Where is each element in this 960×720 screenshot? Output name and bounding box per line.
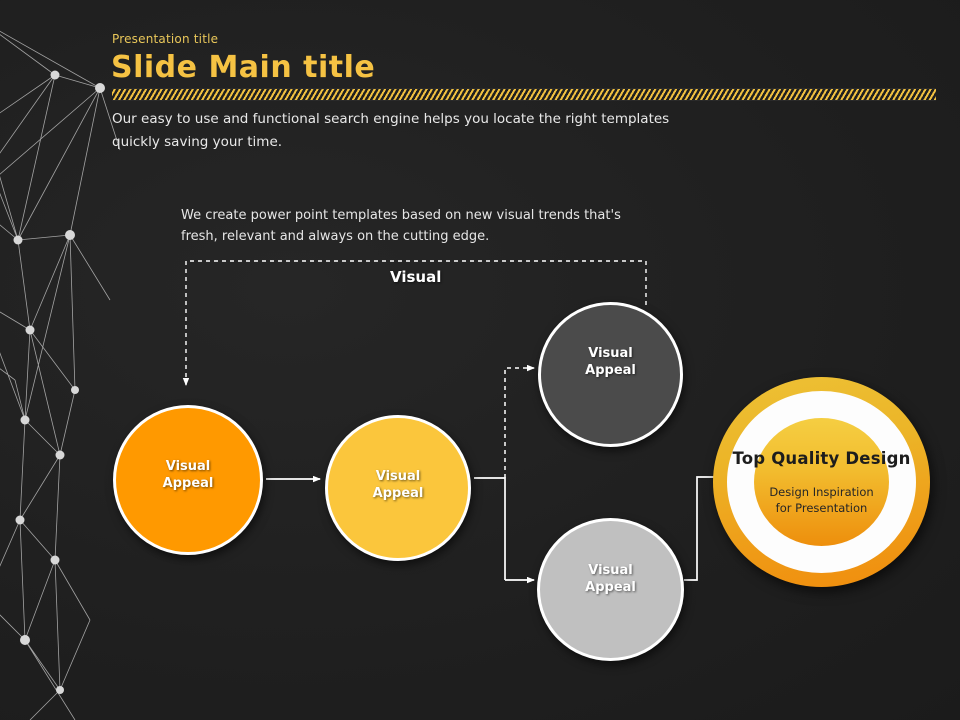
arrow-node2-to-node3 <box>505 368 534 478</box>
node-visual-appeal-dark-gray[interactable] <box>538 302 683 447</box>
medallion-inner-disc: Top Quality Design Design Inspiration fo… <box>754 418 889 546</box>
node-visual-appeal-yellow[interactable] <box>325 415 471 561</box>
presentation-slide: Presentation title Slide Main title Our … <box>0 0 960 720</box>
node-visual-appeal-light-gray[interactable] <box>537 518 684 661</box>
medallion-white-ring: Top Quality Design Design Inspiration fo… <box>727 391 916 573</box>
split-riser <box>474 478 505 580</box>
top-quality-design-medallion[interactable]: Top Quality Design Design Inspiration fo… <box>713 377 930 587</box>
branch-label-visual: Visual <box>390 268 441 286</box>
medallion-title: Top Quality Design <box>732 449 910 468</box>
process-diagram-connectors <box>0 0 960 720</box>
medallion-subtitle: Design Inspiration for Presentation <box>769 484 873 516</box>
node-visual-appeal-orange[interactable] <box>113 405 263 555</box>
